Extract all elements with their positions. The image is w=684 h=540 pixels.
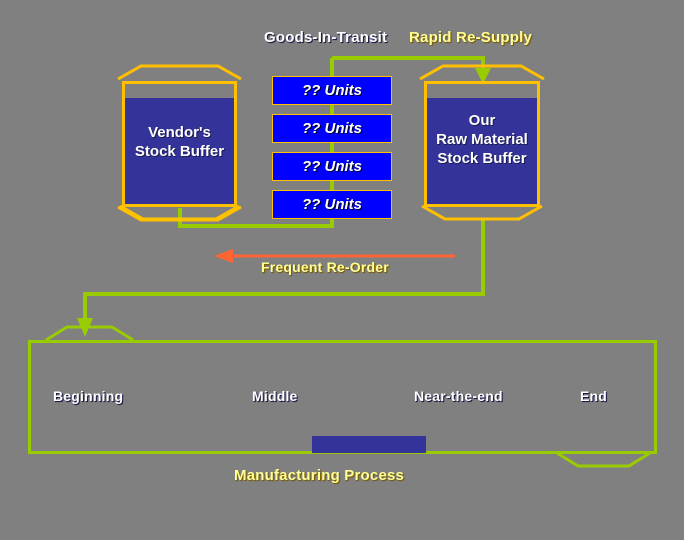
frequent-reorder-arrowhead: [214, 249, 233, 263]
vendor-top-chevron: [118, 66, 241, 79]
mfg-top-chevron: [46, 327, 133, 340]
label-goods-in-transit: Goods-In-Transit: [264, 29, 387, 46]
mfg-bottom-chevron: [557, 453, 650, 466]
transit-unit-box-2[interactable]: ?? Units: [272, 114, 392, 143]
our-bottom-chevron: [422, 206, 542, 219]
transit-unit-box-3[interactable]: ?? Units: [272, 152, 392, 181]
vendor-stock-buffer[interactable]: Vendor's Stock Buffer: [122, 81, 237, 207]
transit-unit-box-4[interactable]: ?? Units: [272, 190, 392, 219]
vendor-buffer-label: Vendor's Stock Buffer: [122, 123, 237, 161]
our-buffer-line1: Our: [424, 111, 540, 130]
our-buffer-label: Our Raw Material Stock Buffer: [424, 111, 540, 168]
transit-unit-box-1[interactable]: ?? Units: [272, 76, 392, 105]
stage-label-end: End: [580, 388, 607, 404]
stage-label-beginning: Beginning: [53, 388, 123, 404]
vendor-bottom-chevron-shape: [120, 206, 239, 219]
transit-unit-label-2: ?? Units: [273, 120, 391, 137]
transit-unit-label-4: ?? Units: [273, 196, 391, 213]
label-frequent-reorder: Frequent Re-Order: [261, 259, 389, 275]
transit-unit-label-1: ?? Units: [273, 82, 391, 99]
vendor-buffer-line2: Stock Buffer: [122, 142, 237, 161]
manufacturing-progress-bar: [312, 436, 426, 453]
rapid-resupply-path: [332, 58, 483, 70]
vendor-bottom-chevron: [118, 207, 241, 220]
vendor-buffer-line1: Vendor's: [122, 123, 237, 142]
stage-label-near-the-end: Near-the-end: [414, 388, 503, 404]
our-top-chevron: [420, 66, 544, 79]
stage-label-middle: Middle: [252, 388, 298, 404]
our-buffer-line2: Raw Material: [424, 130, 540, 149]
label-rapid-resupply: Rapid Re-Supply: [409, 29, 532, 46]
to-manufacturing-arrowhead: [77, 318, 93, 337]
transit-unit-label-3: ?? Units: [273, 158, 391, 175]
our-buffer-line3: Stock Buffer: [424, 149, 540, 168]
label-manufacturing-process: Manufacturing Process: [234, 467, 404, 484]
our-raw-material-stock-buffer[interactable]: Our Raw Material Stock Buffer: [424, 81, 540, 207]
diagram-canvas: Goods-In-Transit Rapid Re-Supply Frequen…: [0, 0, 684, 540]
